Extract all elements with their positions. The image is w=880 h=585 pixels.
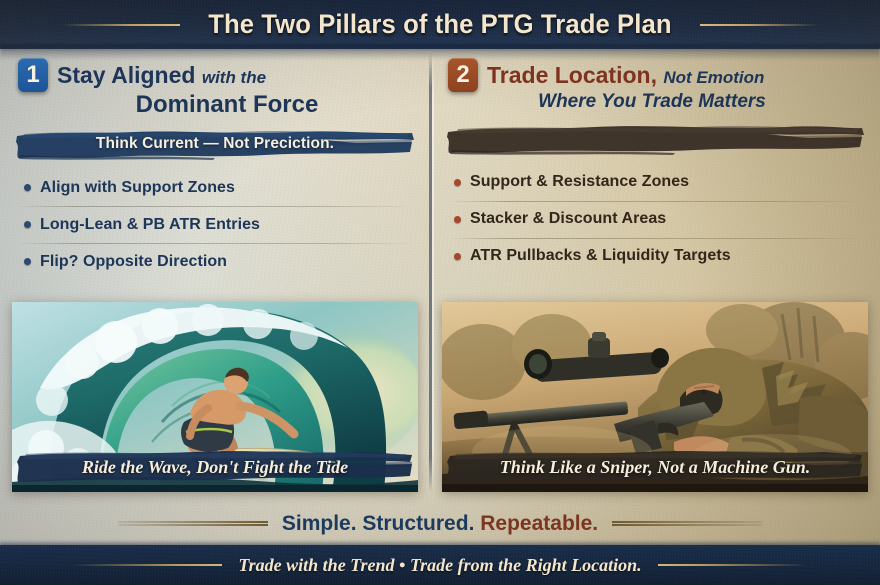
- tagline-row: Simple. Structured. Repeatable.: [0, 502, 880, 545]
- list-item: Stacker & Discount Areas: [454, 201, 860, 238]
- list-item-label: Support & Resistance Zones: [470, 173, 689, 191]
- list-item-label: Long-Lean & PB ATR Entries: [40, 216, 260, 234]
- bullet-dot-icon: [24, 184, 31, 191]
- tagline-part-rust: Repeatable.: [480, 512, 598, 535]
- pillar-one-heading: 1 Stay Aligned with the Dominant Force: [0, 49, 430, 118]
- pillar-two-banner-brush-icon: [444, 122, 866, 156]
- infographic-poster: The Two Pillars of the PTG Trade Plan 1 …: [0, 0, 880, 585]
- pillar-two-heading-line2: Where You Trade Matters: [448, 92, 864, 113]
- list-item: Long-Lean & PB ATR Entries: [24, 206, 410, 243]
- bullet-dot-icon: [454, 216, 461, 223]
- list-item: Align with Support Zones: [24, 169, 410, 206]
- list-item: Flip? Opposite Direction: [24, 243, 410, 280]
- title-row: The Two Pillars of the PTG Trade Plan: [0, 0, 880, 49]
- list-item-label: Stacker & Discount Areas: [470, 210, 666, 228]
- column-divider: [429, 52, 432, 492]
- pillar-one-heading-line1: 1 Stay Aligned with the: [18, 58, 414, 92]
- pillar-two-heading-text: Trade Location, Not Emotion: [487, 63, 764, 87]
- pillar-two-number-badge: 2: [448, 58, 478, 92]
- tagline-rule-left-icon: [118, 521, 268, 526]
- pillar-one-number-badge: 1: [18, 58, 48, 92]
- pillar-one-heading-lead: Stay Aligned: [57, 62, 195, 88]
- pillar-one-heading-sub: with the: [202, 68, 266, 87]
- bullet-dot-icon: [24, 221, 31, 228]
- pillar-one-banner: Think Current — Not Preciction.: [14, 127, 416, 161]
- pillar-one-caption-text: Ride the Wave, Don't Fight the Tide: [82, 457, 348, 478]
- pillar-two-heading-sub: Not Emotion: [663, 68, 764, 87]
- pillar-two-bullet-list: Support & Resistance Zones Stacker & Dis…: [454, 164, 860, 275]
- bullet-dot-icon: [24, 258, 31, 265]
- footer-band: Trade with the Trend • Trade from the Ri…: [0, 545, 880, 585]
- pillar-one-heading-text: Stay Aligned with the: [57, 63, 266, 87]
- title-rule-right-icon: [700, 24, 818, 26]
- tagline-part-navy: Simple. Structured.: [282, 512, 475, 535]
- list-item: ATR Pullbacks & Liquidity Targets: [454, 238, 860, 275]
- list-item-label: Flip? Opposite Direction: [40, 253, 227, 271]
- list-item-label: Align with Support Zones: [40, 179, 235, 197]
- list-item-label: ATR Pullbacks & Liquidity Targets: [470, 247, 731, 265]
- bullet-dot-icon: [454, 179, 461, 186]
- footer-text: Trade with the Trend • Trade from the Ri…: [238, 555, 641, 576]
- list-item: Support & Resistance Zones: [454, 164, 860, 201]
- title-rule-left-icon: [62, 24, 180, 26]
- pillar-two-caption: Think Like a Sniper, Not a Machine Gun.: [444, 446, 866, 488]
- pillar-two-heading-lead: Trade Location,: [487, 62, 657, 88]
- tagline-rule-right-icon: [612, 521, 762, 526]
- pillar-one-caption: Ride the Wave, Don't Fight the Tide: [14, 446, 416, 488]
- pillar-two-heading: 2 Trade Location, Not Emotion Where You …: [430, 49, 880, 113]
- bullet-dot-icon: [454, 253, 461, 260]
- tagline-text: Simple. Structured. Repeatable.: [282, 512, 598, 536]
- pillar-one-banner-label: Think Current — Not Preciction.: [96, 135, 334, 153]
- pillar-two-heading-line1: 2 Trade Location, Not Emotion: [448, 58, 864, 92]
- pillar-one-column: 1 Stay Aligned with the Dominant Force: [0, 49, 430, 502]
- footer-rule-right-icon: [658, 564, 808, 566]
- pillar-two-caption-text: Think Like a Sniper, Not a Machine Gun.: [500, 457, 811, 478]
- pillar-one-bullet-list: Align with Support Zones Long-Lean & PB …: [24, 169, 410, 280]
- pillar-two-banner: [444, 122, 866, 156]
- page-title: The Two Pillars of the PTG Trade Plan: [208, 9, 671, 40]
- footer-rule-left-icon: [72, 564, 222, 566]
- pillar-one-heading-line2: Dominant Force: [18, 92, 414, 118]
